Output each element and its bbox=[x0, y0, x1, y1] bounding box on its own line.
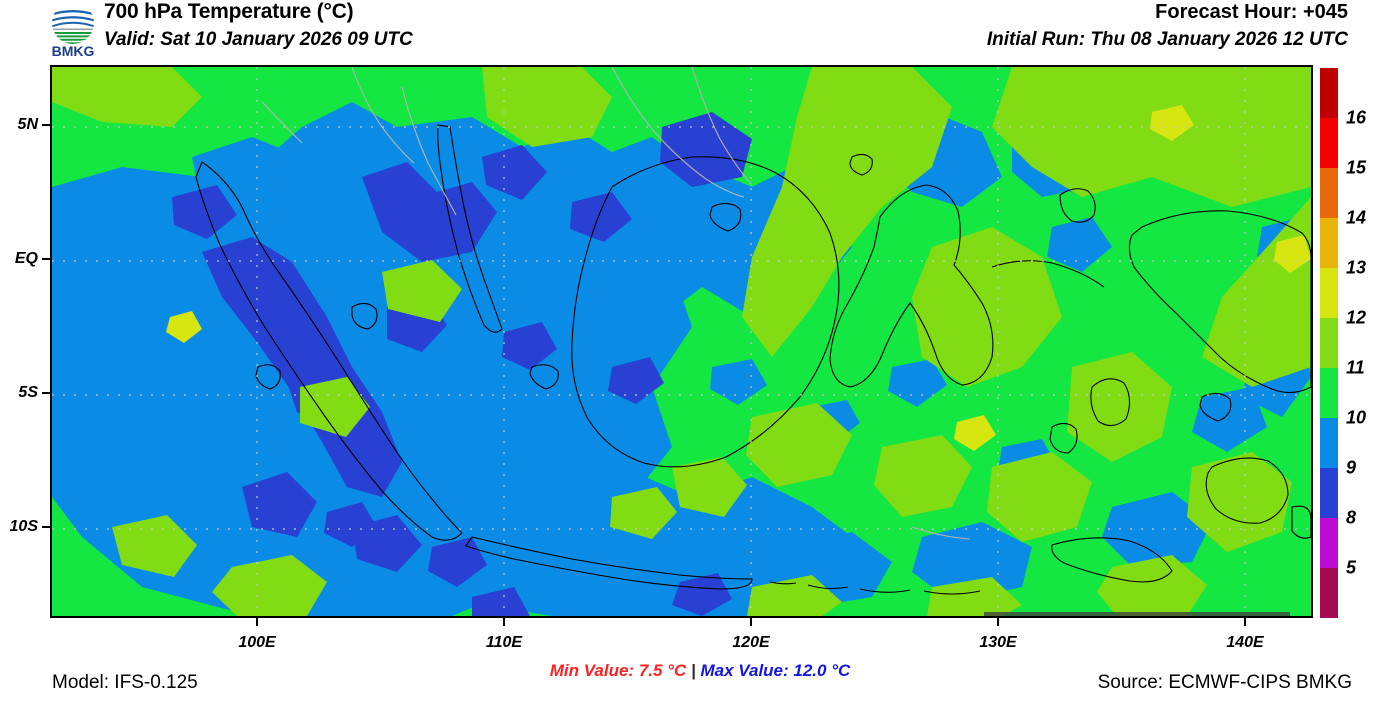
y-label-5n: 5N bbox=[0, 116, 38, 134]
temperature-field-svg bbox=[52, 67, 1311, 616]
colorbar-tick-11: 11 bbox=[1346, 358, 1365, 379]
colorbar-tick-10: 10 bbox=[1346, 408, 1366, 429]
colorbar-tick-16: 16 bbox=[1346, 108, 1366, 129]
model-label: Model: IFS-0.125 bbox=[52, 672, 198, 694]
x-label-110e: 110E bbox=[486, 634, 522, 652]
bmkg-logo-svg: BMKG bbox=[40, 2, 106, 58]
y-tick-5s bbox=[42, 392, 50, 394]
colorbar-band bbox=[1320, 418, 1338, 468]
max-value-label: Max Value: 12.0 °C bbox=[700, 661, 850, 680]
y-tick-5n bbox=[42, 124, 50, 126]
colorbar-tick-13: 13 bbox=[1346, 258, 1366, 279]
x-label-130e: 130E bbox=[979, 634, 1016, 652]
x-tick-130e bbox=[997, 618, 999, 626]
colorbar-tick-9: 9 bbox=[1346, 458, 1356, 479]
colorbar-tick-15: 15 bbox=[1346, 158, 1366, 179]
colorbar-tick-14: 14 bbox=[1346, 208, 1366, 229]
x-tick-110e bbox=[503, 618, 505, 626]
colorbar-band bbox=[1320, 368, 1338, 418]
page-title: 700 hPa Temperature (°C) bbox=[104, 0, 353, 24]
y-label-eq: EQ bbox=[0, 250, 38, 268]
y-label-10s: 10S bbox=[0, 518, 38, 536]
x-label-100e: 100E bbox=[238, 634, 275, 652]
y-label-5s: 5S bbox=[0, 384, 38, 402]
minmax-separator: | bbox=[691, 661, 696, 680]
x-tick-120e bbox=[750, 618, 752, 626]
colorbar-band bbox=[1320, 518, 1338, 568]
colorbar-band bbox=[1320, 168, 1338, 218]
weather-map-page: BMKG 700 hPa Temperature (°C) Valid: Sat… bbox=[0, 0, 1400, 709]
colorbar-band bbox=[1320, 68, 1338, 118]
colorbar-band bbox=[1320, 268, 1338, 318]
colorbar-tick-8: 8 bbox=[1346, 508, 1356, 529]
colorbar-band bbox=[1320, 218, 1338, 268]
source-label: Source: ECMWF-CIPS BMKG bbox=[1098, 672, 1352, 694]
bmkg-logo-text: BMKG bbox=[52, 43, 95, 58]
colorbar-band bbox=[1320, 118, 1338, 168]
colorbar-band bbox=[1320, 318, 1338, 368]
valid-time-label: Valid: Sat 10 January 2026 09 UTC bbox=[104, 29, 413, 51]
x-tick-140e bbox=[1244, 618, 1246, 626]
forecast-hour-label: Forecast Hour: +045 bbox=[1155, 1, 1348, 24]
x-tick-100e bbox=[256, 618, 258, 626]
colorbar-band bbox=[1320, 568, 1338, 618]
colorbar-tick-12: 12 bbox=[1346, 308, 1366, 329]
min-value-label: Min Value: 7.5 °C bbox=[550, 661, 687, 680]
colorbar-band bbox=[1320, 468, 1338, 518]
colorbar-tick-5: 5 bbox=[1346, 558, 1356, 579]
x-label-140e: 140E bbox=[1226, 634, 1263, 652]
initial-run-label: Initial Run: Thu 08 January 2026 12 UTC bbox=[987, 29, 1348, 51]
y-tick-eq bbox=[42, 258, 50, 260]
x-label-120e: 120E bbox=[732, 634, 769, 652]
colorbar bbox=[1320, 68, 1338, 618]
y-tick-10s bbox=[42, 526, 50, 528]
map-plot-area: Copyright Sub Bidang Prediksi Cuaca BMKG… bbox=[50, 65, 1313, 618]
bmkg-logo: BMKG bbox=[40, 2, 106, 58]
